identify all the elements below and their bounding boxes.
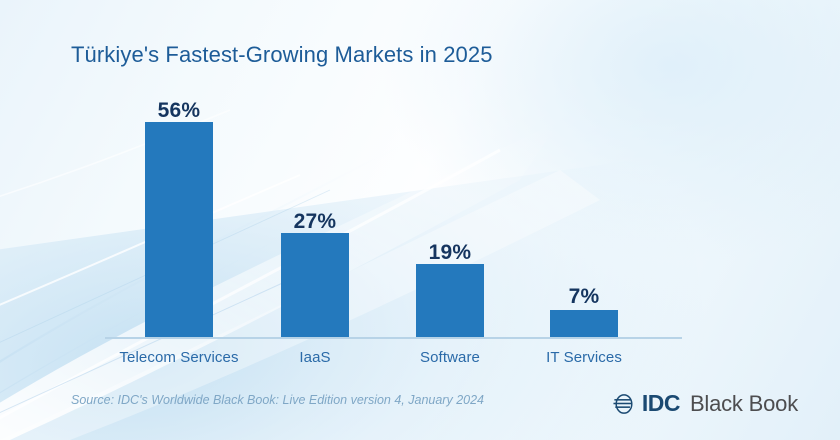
bar-value-it-services: 7% xyxy=(534,285,634,309)
logo-idc-text: IDC xyxy=(642,392,680,415)
bar-value-software: 19% xyxy=(400,241,500,265)
idc-globe-icon xyxy=(613,393,635,415)
bar-it-services[interactable] xyxy=(550,310,618,337)
category-label-telecom-services: Telecom Services xyxy=(104,349,254,366)
x-axis-line xyxy=(105,337,682,339)
logo-black-book-text: Black Book xyxy=(690,393,798,415)
category-label-software: Software xyxy=(375,349,525,366)
bar-iaas[interactable] xyxy=(281,233,349,337)
idc-black-book-logo: IDC Black Book xyxy=(613,392,798,415)
bar-value-telecom-services: 56% xyxy=(129,99,229,123)
source-note: Source: IDC's Worldwide Black Book: Live… xyxy=(71,393,484,407)
bar-software[interactable] xyxy=(416,264,484,337)
plot-area: 56% Telecom Services 27% IaaS 19% Softwa… xyxy=(0,0,840,440)
category-label-iaas: IaaS xyxy=(240,349,390,366)
chart-slide: Türkiye's Fastest-Growing Markets in 202… xyxy=(0,0,840,440)
category-label-it-services: IT Services xyxy=(509,349,659,366)
bar-telecom-services[interactable] xyxy=(145,122,213,337)
bar-value-iaas: 27% xyxy=(265,210,365,234)
